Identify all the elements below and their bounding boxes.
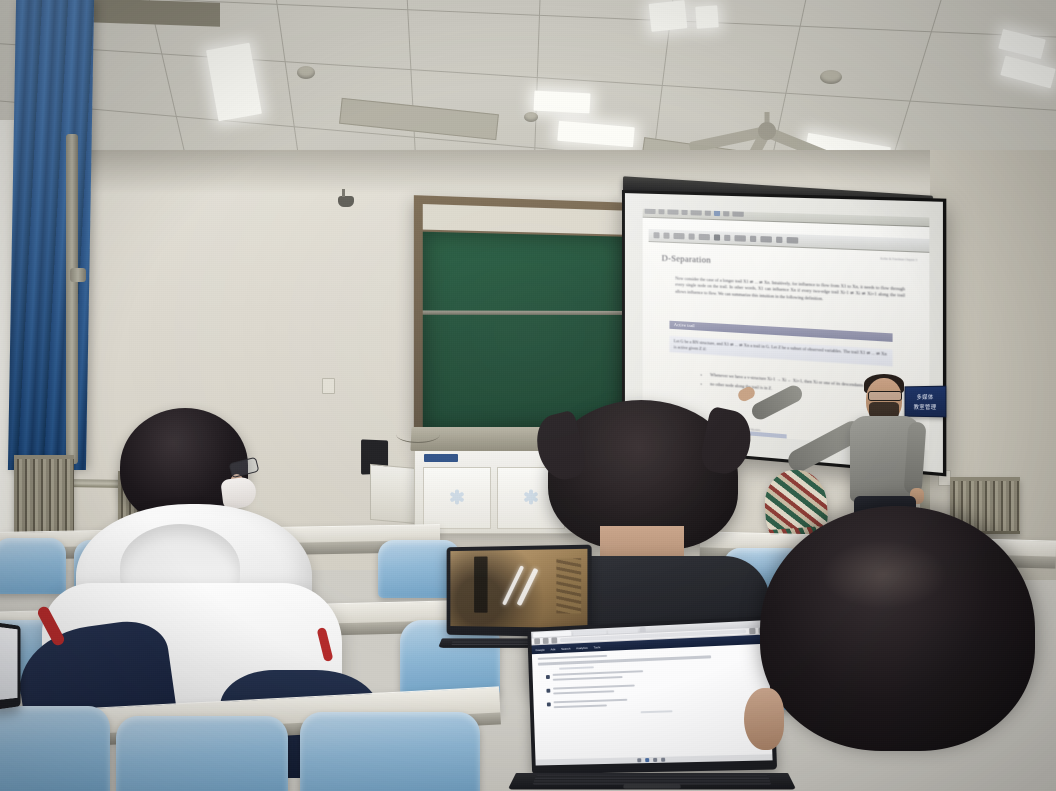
search-icon[interactable] bbox=[698, 233, 709, 240]
nav-item[interactable]: Analytics bbox=[576, 645, 588, 649]
new-tab-icon[interactable] bbox=[640, 627, 646, 632]
content-line bbox=[553, 670, 643, 676]
ceiling-fan bbox=[762, 126, 772, 136]
pen-icon[interactable] bbox=[724, 234, 730, 240]
laptop-keyboard[interactable] bbox=[533, 776, 771, 785]
list-bullet-icon bbox=[547, 702, 551, 706]
student-ear bbox=[744, 688, 784, 750]
wall-shadow bbox=[0, 150, 1056, 194]
taskbar-icon[interactable] bbox=[645, 758, 649, 762]
toolbar-icon[interactable] bbox=[668, 209, 679, 215]
list-item bbox=[547, 694, 764, 711]
seat[interactable] bbox=[300, 712, 480, 791]
game-viewport bbox=[450, 549, 587, 628]
seat[interactable] bbox=[116, 716, 288, 791]
toolbar-icon[interactable] bbox=[682, 209, 688, 215]
forward-icon[interactable] bbox=[543, 638, 549, 644]
console-door-left[interactable] bbox=[423, 467, 491, 529]
page-icon[interactable] bbox=[688, 233, 694, 239]
back-icon[interactable] bbox=[534, 638, 540, 644]
reload-icon[interactable] bbox=[551, 637, 557, 643]
radiator-top-rail bbox=[950, 477, 1020, 481]
power-outlet-icon[interactable] bbox=[322, 378, 335, 394]
laptop-base bbox=[508, 773, 797, 790]
lecturer-right-arm bbox=[904, 421, 927, 494]
toolbar-icon[interactable] bbox=[705, 209, 711, 215]
taskbar-icon[interactable] bbox=[661, 758, 665, 762]
floor-cable bbox=[396, 426, 440, 443]
classroom-photo: Koller & Friedman Chapter 3 D-Separation… bbox=[0, 0, 1056, 791]
slide-title: D-Separation bbox=[662, 253, 711, 265]
color-icon[interactable] bbox=[760, 236, 772, 243]
ceiling-light-panel bbox=[695, 5, 718, 28]
laptop-screen[interactable] bbox=[450, 549, 587, 628]
seat[interactable] bbox=[0, 706, 110, 791]
eraser-icon[interactable] bbox=[749, 235, 755, 241]
student-hair bbox=[760, 506, 1035, 751]
slide-corner-note: Koller & Friedman Chapter 3 bbox=[880, 257, 917, 262]
ceiling-light-panel bbox=[534, 91, 591, 114]
toolbar-icon[interactable] bbox=[645, 209, 656, 214]
pdf-viewer-toolbar[interactable] bbox=[648, 229, 929, 253]
glasses-icon bbox=[868, 391, 902, 401]
slide-definition-body: Let G be a BN structure, and X1 ⇌ ... ⇌ … bbox=[670, 336, 893, 367]
laptop-lid: Google Ads Search Analytics Tools bbox=[527, 616, 777, 775]
smoke-detector-icon bbox=[297, 66, 315, 79]
laptop-lid bbox=[0, 622, 20, 710]
game-terrain bbox=[556, 558, 582, 613]
content-line bbox=[553, 676, 623, 681]
laptop-screen[interactable]: Google Ads Search Analytics Tools bbox=[531, 620, 772, 765]
toolbar-icon[interactable] bbox=[714, 210, 720, 216]
zoom-icon[interactable] bbox=[673, 232, 684, 238]
list-bullet-icon bbox=[546, 675, 550, 679]
content-line bbox=[641, 710, 673, 713]
laptop-trackpad[interactable] bbox=[623, 784, 680, 788]
content-line bbox=[559, 666, 594, 669]
window-curtain[interactable] bbox=[8, 0, 94, 470]
back-icon[interactable] bbox=[653, 232, 659, 238]
blackboard-upper-rail bbox=[423, 204, 625, 235]
smoke-detector-icon bbox=[820, 70, 842, 84]
nav-item[interactable]: Google bbox=[535, 647, 544, 651]
laptop-screen[interactable] bbox=[0, 627, 17, 701]
list-bullet-icon bbox=[546, 689, 550, 693]
fullscreen-icon[interactable] bbox=[786, 237, 798, 244]
student-foreground bbox=[760, 506, 1050, 791]
smoke-detector-icon bbox=[524, 112, 538, 122]
nav-item[interactable]: Ads bbox=[550, 647, 555, 651]
nav-item[interactable]: Search bbox=[561, 646, 570, 650]
console-logo-icon bbox=[522, 488, 540, 506]
toolbar-icon[interactable] bbox=[723, 210, 729, 216]
content-line bbox=[554, 699, 628, 704]
pdf-viewer-menubar[interactable] bbox=[643, 209, 930, 227]
console-logo-icon bbox=[448, 488, 466, 506]
game-hud-panel[interactable] bbox=[474, 557, 487, 613]
heating-pipe bbox=[70, 268, 86, 282]
wall-camera-icon bbox=[338, 196, 354, 207]
taskbar-icon[interactable] bbox=[637, 758, 641, 762]
settings-icon[interactable] bbox=[776, 236, 782, 242]
content-line bbox=[553, 690, 614, 694]
highlight-icon[interactable] bbox=[713, 234, 719, 240]
fan-hub bbox=[758, 122, 776, 140]
slide-paragraph: Now consider the case of a longer trail … bbox=[675, 276, 905, 306]
taskbar-icon[interactable] bbox=[653, 758, 657, 762]
console-badge bbox=[424, 454, 458, 462]
page-content bbox=[532, 644, 773, 766]
toolbar-icon[interactable] bbox=[659, 209, 665, 214]
nav-item[interactable]: Tools bbox=[593, 645, 600, 649]
ceiling-light-panel bbox=[649, 0, 688, 32]
star-icon[interactable] bbox=[749, 628, 755, 634]
toolbar-icon[interactable] bbox=[691, 209, 702, 215]
forward-icon[interactable] bbox=[663, 232, 669, 238]
shape-icon[interactable] bbox=[734, 235, 745, 242]
content-line bbox=[553, 685, 635, 690]
toolbar-icon[interactable] bbox=[733, 210, 744, 217]
content-line bbox=[538, 655, 608, 660]
laptop-edge-left[interactable] bbox=[0, 624, 26, 710]
content-line bbox=[554, 704, 607, 708]
face-mask-icon bbox=[220, 476, 257, 510]
